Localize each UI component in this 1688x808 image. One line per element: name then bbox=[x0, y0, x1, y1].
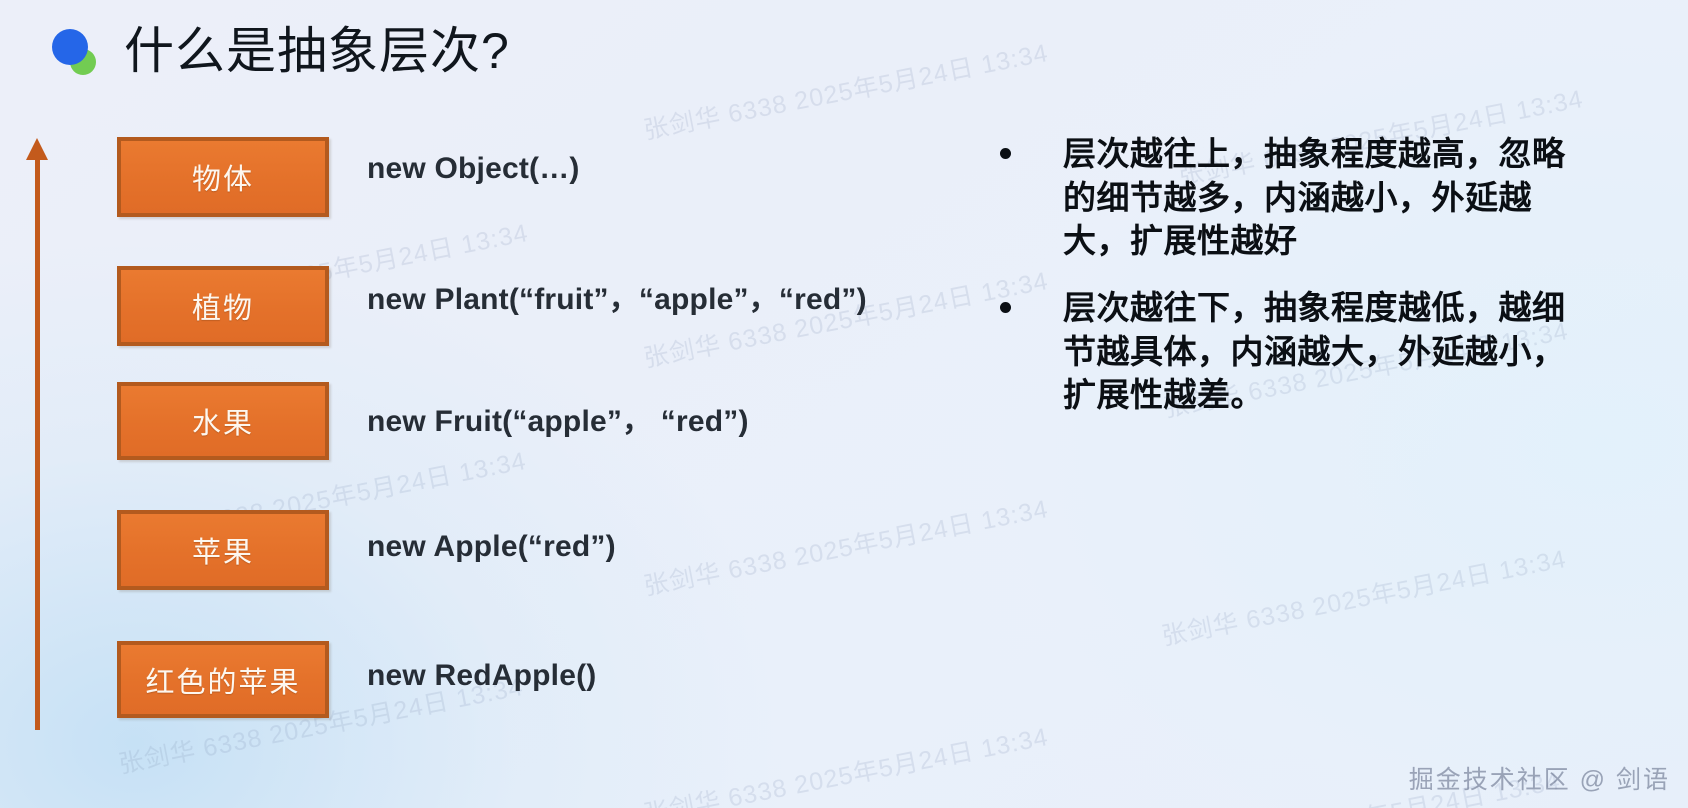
bullet-dot-icon bbox=[1000, 302, 1011, 313]
level-box-red-apple[interactable]: 红色的苹果 bbox=[117, 641, 329, 718]
slide-canvas: 张剑华 6338 2025年5月24日 13:34 张剑华 6338 2025年… bbox=[0, 0, 1688, 808]
level-box-object[interactable]: 物体 bbox=[117, 137, 329, 217]
code-line-plant: new Plant(“fruit”，“apple”，“red”) bbox=[367, 274, 867, 318]
watermark-text: 张剑华 6338 2025年5月24日 13:34 bbox=[640, 489, 1051, 603]
level-label: 物体 bbox=[192, 156, 254, 198]
watermark-text: 张剑华 6338 2025年5月24日 13:34 bbox=[1158, 539, 1569, 653]
code-line-apple: new Apple(“red”) bbox=[367, 530, 616, 564]
logo-circles-icon bbox=[48, 23, 106, 79]
level-label: 苹果 bbox=[192, 529, 254, 571]
slide-header: 什么是抽象层次? bbox=[48, 16, 510, 86]
level-label: 水果 bbox=[192, 400, 254, 442]
code-line-object: new Object(…) bbox=[367, 152, 580, 186]
level-label: 红色的苹果 bbox=[145, 659, 300, 701]
abstraction-up-arrow-icon bbox=[24, 138, 50, 730]
watermark-text: 张剑华 6338 2025年5月24日 13:34 bbox=[640, 33, 1051, 147]
arrow-shaft bbox=[35, 152, 40, 730]
watermark-text: 张剑华 6338 2025年5月24日 13:34 bbox=[640, 717, 1051, 808]
bullet-text: 层次越往下，抽象程度越低，越细节越具体，内涵越大，外延越小，扩展性越差。 bbox=[1063, 286, 1570, 417]
level-box-plant[interactable]: 植物 bbox=[117, 266, 329, 346]
bullet-dot-icon bbox=[1000, 148, 1011, 159]
level-box-fruit[interactable]: 水果 bbox=[117, 382, 329, 460]
code-line-red-apple: new RedApple() bbox=[367, 659, 596, 693]
bullet-item-upward: 层次越往上，抽象程度越高，忽略的细节越多，内涵越小，外延越大，扩展性越好 bbox=[1000, 132, 1570, 263]
bullet-item-downward: 层次越往下，抽象程度越低，越细节越具体，内涵越大，外延越小，扩展性越差。 bbox=[1000, 286, 1570, 417]
blue-circle-icon bbox=[52, 29, 88, 65]
level-box-apple[interactable]: 苹果 bbox=[117, 510, 329, 590]
page-title: 什么是抽象层次? bbox=[124, 26, 510, 76]
level-label: 植物 bbox=[192, 285, 254, 327]
footer-brand: 掘金技术社区 @ 剑语 bbox=[1409, 760, 1670, 796]
code-line-fruit: new Fruit(“apple”， “red”) bbox=[367, 396, 749, 440]
bullet-text: 层次越往上，抽象程度越高，忽略的细节越多，内涵越小，外延越大，扩展性越好 bbox=[1063, 132, 1570, 263]
